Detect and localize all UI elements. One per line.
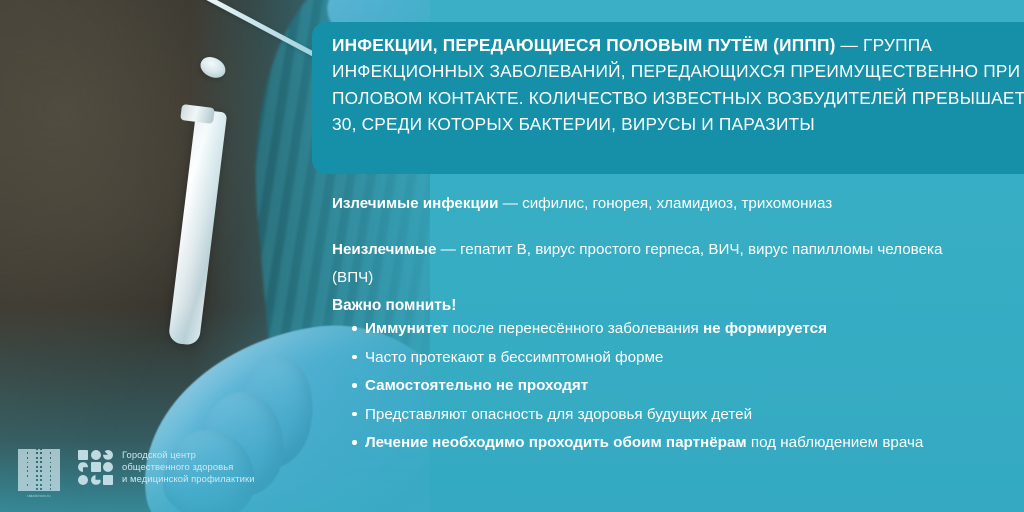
logo-cell-circle bbox=[91, 450, 101, 460]
logo-cell-square bbox=[78, 450, 88, 460]
curable-dash: — bbox=[498, 195, 522, 212]
logo-mark-icon bbox=[78, 450, 113, 485]
list-item: Иммунитет после перенесённого заболевани… bbox=[333, 318, 1013, 339]
curable-value: сифилис, гонорея, хламидиоз, трихомониаз bbox=[522, 195, 832, 212]
bullet-bold-start: Иммунитет bbox=[365, 320, 448, 337]
logo-cell-pac-bottom bbox=[91, 475, 101, 485]
logo-cell-square bbox=[103, 475, 113, 485]
bullet-middle: после перенесённого заболевания bbox=[448, 320, 703, 337]
bullet-bold-start: Лечение необходимо проходить обоим партн… bbox=[365, 434, 747, 451]
important-title: Важно помнить! bbox=[332, 295, 456, 317]
bullet-bold-end: не формируется bbox=[703, 320, 827, 337]
logo-cell-pac-left bbox=[103, 450, 113, 460]
bullet-middle: Часто протекают в бессимптомной форме bbox=[365, 349, 663, 366]
incurable-dash: — bbox=[436, 241, 460, 258]
list-item: Самостоятельно не проходят bbox=[333, 375, 1013, 396]
list-item: Лечение необходимо проходить обоим партн… bbox=[333, 432, 1013, 453]
incurable-label: Неизлечимые bbox=[332, 241, 436, 258]
logo-cell-pac-right bbox=[78, 462, 88, 472]
bullet-bold-start: Самостоятельно не проходят bbox=[365, 377, 588, 394]
header-lead-bold: ИНФЕКЦИИ, ПЕРЕДАЮЩИЕСЯ ПОЛОВЫМ ПУТЁМ (ИП… bbox=[332, 35, 836, 55]
footer: takzdorovo.ru Городской центр общественн… bbox=[18, 449, 255, 498]
logo-cell-circle bbox=[78, 475, 88, 485]
incurable-line: Неизлечимые — гепатит B, вирус простого … bbox=[332, 236, 972, 292]
organization-name: Городской центр общественного здоровья и… bbox=[122, 449, 255, 486]
poster-canvas: ИНФЕКЦИИ, ПЕРЕДАЮЩИЕСЯ ПОЛОВЫМ ПУТЁМ (ИП… bbox=[0, 0, 1024, 512]
list-item: Часто протекают в бессимптомной форме bbox=[333, 347, 1013, 368]
logo-cell-circle bbox=[103, 462, 113, 472]
organization-logo: Городской центр общественного здоровья и… bbox=[78, 449, 255, 486]
curable-line: Излечимые инфекции — сифилис, гонорея, х… bbox=[332, 190, 1012, 218]
qr-block[interactable]: takzdorovo.ru bbox=[18, 449, 60, 498]
important-bullet-list: Иммунитет после перенесённого заболевани… bbox=[333, 318, 1013, 461]
qr-caption: takzdorovo.ru bbox=[27, 494, 50, 498]
bullet-middle: Представляют опасность для здоровья буду… bbox=[365, 406, 752, 423]
header-dash: — bbox=[836, 35, 863, 55]
curable-label: Излечимые инфекции bbox=[332, 195, 498, 212]
list-item: Представляют опасность для здоровья буду… bbox=[333, 404, 1013, 425]
bullet-middle: под наблюдением врача bbox=[747, 434, 924, 451]
header-paragraph: ИНФЕКЦИИ, ПЕРЕДАЮЩИЕСЯ ПОЛОВЫМ ПУТЁМ (ИП… bbox=[332, 32, 1024, 138]
logo-cell-square bbox=[91, 462, 101, 472]
qr-code-icon[interactable] bbox=[18, 449, 60, 491]
